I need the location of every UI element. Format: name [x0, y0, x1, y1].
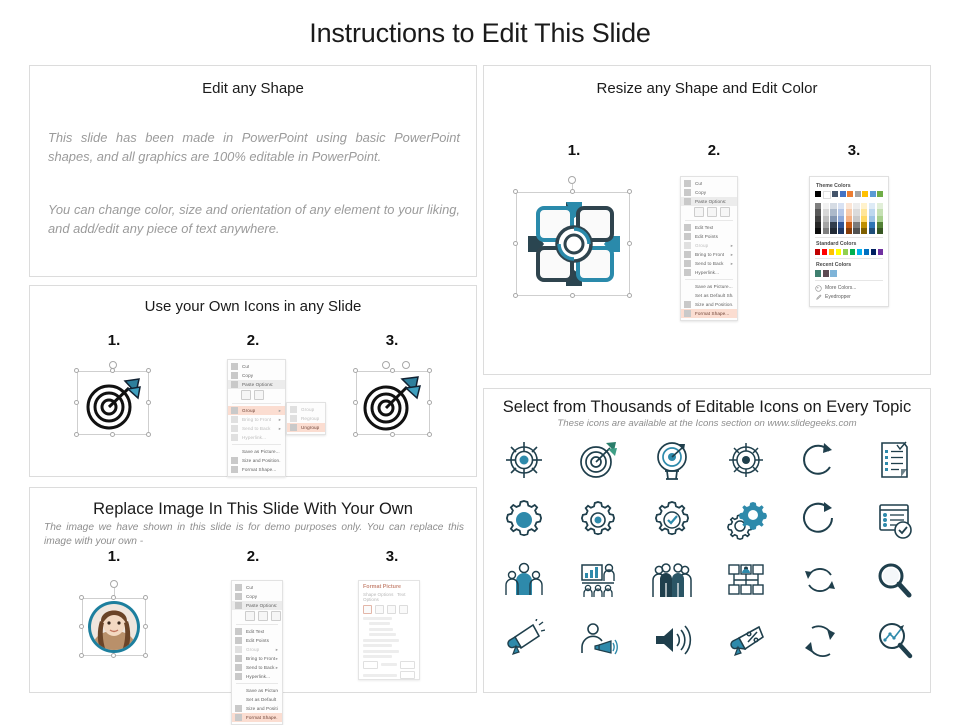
replace-step-1-number: 1.: [84, 548, 144, 565]
group-icon: [235, 646, 242, 653]
resize-handle-ne[interactable]: [627, 189, 632, 194]
presentation-meeting-icon[interactable]: [570, 559, 626, 611]
color-swatch[interactable]: [840, 191, 846, 197]
menu-divider: [685, 279, 733, 280]
paste-icon: [684, 198, 691, 205]
rotate-handle-2[interactable]: [402, 361, 410, 369]
menu-item-cut[interactable]: Cut: [228, 362, 285, 371]
replace-step-2-number: 2.: [223, 548, 283, 565]
submenu-item-group[interactable]: Group: [287, 405, 325, 414]
edit-shape-paragraph-2: You can change color, size and orientati…: [48, 200, 460, 238]
resize-handle-n[interactable]: [390, 368, 395, 373]
format-pane-option: [369, 622, 390, 625]
paste-picture-icon[interactable]: [258, 611, 268, 621]
chevron-right-icon: ▸: [276, 663, 278, 672]
menu-item-format-shape[interactable]: Format Shape...: [681, 309, 737, 318]
refresh-arrow-icon[interactable]: [792, 439, 848, 491]
panel-resize-shape-edit-color: Resize any Shape and Edit Color 1. 2. 3.: [483, 65, 931, 375]
color-swatch[interactable]: [829, 249, 834, 255]
eyedropper-icon: [815, 294, 822, 301]
color-swatch[interactable]: [864, 249, 869, 255]
replace-step-2-context-menu[interactable]: Cut Copy Paste Options: Edit Text Edit P…: [231, 580, 283, 725]
own-icons-context-menu[interactable]: Cut Copy Paste Options: Group▸ Bring to …: [227, 359, 286, 477]
menu-item-edit-points[interactable]: Edit Points: [681, 232, 737, 241]
color-swatch[interactable]: [815, 270, 821, 276]
chevron-right-icon: ▸: [731, 241, 733, 250]
format-pane-option: [369, 628, 393, 631]
paste-picture-icon[interactable]: [254, 390, 264, 400]
copy-icon: [235, 593, 242, 600]
send-back-icon: [684, 260, 691, 267]
resize-handle-sw[interactable]: [353, 432, 358, 437]
edit-shape-paragraph-1: This slide has been made in PowerPoint u…: [48, 128, 460, 166]
format-pane-label: [363, 674, 397, 677]
menu-divider: [236, 624, 278, 625]
divider: [815, 280, 883, 281]
resize-handle-w[interactable]: [74, 400, 79, 405]
size-icon[interactable]: [387, 605, 396, 614]
edit-text-icon: [235, 628, 242, 635]
size-position-icon: [231, 457, 238, 464]
copy-icon: [231, 372, 238, 379]
format-shape-icon: [684, 310, 691, 317]
color-swatch[interactable]: [830, 228, 836, 234]
value-field[interactable]: [400, 661, 415, 669]
resize-handle-ne[interactable]: [427, 368, 432, 373]
checklist-approved-icon[interactable]: [866, 499, 922, 551]
speaker-icon[interactable]: [644, 619, 700, 671]
bring-front-icon: [231, 416, 238, 423]
blank-icon: [235, 687, 242, 694]
edit-text-icon: [684, 224, 691, 231]
page-title: Instructions to Edit This Slide: [0, 18, 960, 49]
crosshair-dot-icon[interactable]: [718, 439, 774, 491]
double-gear-icon[interactable]: [718, 499, 774, 551]
eyedropper-item[interactable]: Eyedropper: [815, 293, 883, 302]
target-arrow-ungrouped-icon: [359, 376, 423, 434]
panel-resize-shape-title: Resize any Shape and Edit Color: [484, 80, 930, 97]
target-stand-icon[interactable]: [644, 439, 700, 491]
color-swatch[interactable]: [847, 191, 853, 197]
own-icons-step-1-number: 1.: [84, 332, 144, 349]
menu-item-send-to-back[interactable]: Send to Back▸: [681, 259, 737, 268]
portrait-photo: [86, 599, 142, 655]
rotate-handle[interactable]: [568, 176, 576, 184]
replace-step-3-number: 3.: [362, 548, 422, 565]
own-icons-step-3-number: 3.: [362, 332, 422, 349]
resize-handle-se[interactable]: [143, 653, 148, 658]
paste-keep-format-icon[interactable]: [694, 207, 704, 217]
own-icons-step-2-number: 2.: [223, 332, 283, 349]
person-megaphone-icon[interactable]: [570, 619, 626, 671]
format-pane-icon-row[interactable]: [363, 605, 415, 614]
resize-handle-sw[interactable]: [74, 432, 79, 437]
group-submenu[interactable]: Group Regroup Ungroup: [286, 402, 326, 435]
format-pane-label: [381, 663, 397, 666]
color-swatch[interactable]: [815, 249, 820, 255]
resize-handle-nw[interactable]: [353, 368, 358, 373]
menu-item-format-shape[interactable]: Format Shape...: [232, 713, 282, 722]
menu-item-format-shape[interactable]: Format Shape...: [228, 465, 285, 474]
panel-replace-image-title: Replace Image In This Slide With Your Ow…: [30, 500, 476, 519]
menu-item-bring-to-front[interactable]: Bring to Front▸: [681, 250, 737, 259]
resize-handle-e[interactable]: [427, 400, 432, 405]
resize-handle-e[interactable]: [143, 624, 148, 629]
menu-item-edit-points[interactable]: Edit Points: [232, 636, 282, 645]
resize-handle-nw[interactable]: [74, 368, 79, 373]
group-icon: [290, 406, 297, 413]
own-icons-step-3-illustration: [354, 363, 432, 435]
divider: [815, 258, 883, 259]
group-icon: [231, 407, 238, 414]
magnifier-chart-icon[interactable]: [866, 619, 922, 671]
resize-handle-e[interactable]: [146, 400, 151, 405]
paste-keep-format-icon[interactable]: [241, 390, 251, 400]
color-swatch-button[interactable]: [363, 661, 378, 669]
scissors-icon: [684, 180, 691, 187]
resize-step-1-number: 1.: [544, 142, 604, 159]
value-field[interactable]: [400, 671, 415, 679]
gear-check-icon[interactable]: [644, 499, 700, 551]
menu-item-hyperlink[interactable]: Hyperlink...: [232, 672, 282, 681]
scissors-icon: [235, 584, 242, 591]
menu-item-cut[interactable]: Cut: [232, 583, 282, 592]
rotate-handle[interactable]: [110, 580, 118, 588]
color-swatch[interactable]: [846, 228, 852, 234]
resize-handle-nw[interactable]: [79, 595, 84, 600]
menu-item-save-as-picture[interactable]: Save as Picture...: [232, 686, 282, 695]
color-swatch[interactable]: [823, 228, 829, 234]
scissors-icon: [231, 363, 238, 370]
recent-colors-label: Recent Colors: [816, 262, 883, 268]
color-swatch[interactable]: [853, 228, 859, 234]
paste-icon: [235, 602, 242, 609]
copy-icon: [684, 189, 691, 196]
edit-points-icon: [684, 233, 691, 240]
hyperlink-icon: [684, 269, 691, 276]
menu-item-copy[interactable]: Copy: [681, 188, 737, 197]
theme-colors-grid[interactable]: [815, 191, 883, 234]
format-pane-option: [363, 650, 399, 653]
paste-option-buttons[interactable]: [681, 206, 737, 218]
fill-icon[interactable]: [363, 605, 372, 614]
color-swatch[interactable]: [877, 191, 883, 197]
theme-tint-row[interactable]: [815, 228, 883, 234]
menu-item-set-default-shape[interactable]: Set as Default Shape: [232, 695, 282, 704]
format-pane-title: Format Picture: [363, 584, 415, 590]
checklist-document-icon[interactable]: [866, 439, 922, 491]
menu-divider: [232, 403, 281, 404]
chevron-right-icon: ▸: [731, 259, 733, 268]
panel-own-icons-title: Use your Own Icons in any Slide: [30, 298, 476, 315]
menu-item-group[interactable]: Group▸: [681, 241, 737, 250]
color-swatch[interactable]: [815, 228, 821, 234]
panel-edit-any-shape: Edit any Shape This slide has been made …: [29, 65, 477, 277]
target-crosshair-icon[interactable]: [496, 439, 552, 491]
submenu-item-regroup[interactable]: Regroup: [287, 414, 325, 423]
chevron-right-icon: ▸: [279, 406, 281, 415]
menu-item-set-default-shape[interactable]: Set as Default Shape: [681, 291, 737, 300]
bring-front-icon: [684, 251, 691, 258]
magnifier-icon[interactable]: [866, 559, 922, 611]
format-picture-pane[interactable]: Format Picture Shape Options Text Option…: [358, 580, 420, 680]
paste-option-buttons[interactable]: [228, 389, 285, 401]
color-swatch[interactable]: [871, 249, 876, 255]
menu-item-paste-options[interactable]: Paste Options:: [228, 380, 285, 389]
menu-item-hyperlink[interactable]: Hyperlink...: [681, 268, 737, 277]
resize-handle-s[interactable]: [570, 293, 575, 298]
org-chart-icon[interactable]: [718, 559, 774, 611]
picture-icon[interactable]: [399, 605, 408, 614]
menu-divider: [236, 683, 278, 684]
megaphone-percent-icon[interactable]: [718, 619, 774, 671]
format-shape-icon: [231, 466, 238, 473]
resize-handle-n[interactable]: [110, 368, 115, 373]
chevron-right-icon: ▸: [279, 415, 281, 424]
format-pane-option: [369, 633, 396, 636]
menu-item-copy[interactable]: Copy: [232, 592, 282, 601]
target-arrow-icon: [83, 377, 143, 433]
blank-icon: [684, 292, 691, 299]
rotate-handle[interactable]: [382, 361, 390, 369]
color-swatch[interactable]: [878, 249, 883, 255]
send-back-icon: [235, 664, 242, 671]
color-swatch[interactable]: [832, 191, 838, 197]
divider: [815, 237, 883, 238]
color-picker-panel[interactable]: Theme Colors Standard Colors Recent Colo…: [809, 176, 889, 307]
color-swatch[interactable]: [830, 270, 836, 276]
blank-icon: [235, 696, 242, 703]
effects-icon[interactable]: [375, 605, 384, 614]
menu-item-bring-to-front[interactable]: Bring to Front▸: [232, 654, 282, 663]
icon-grid: [484, 389, 930, 692]
panel-use-own-icons: Use your Own Icons in any Slide 1. 2. 3.: [29, 285, 477, 477]
size-position-icon: [684, 301, 691, 308]
menu-item-bring-to-front[interactable]: Bring to Front▸: [228, 415, 285, 424]
edit-points-icon: [235, 637, 242, 644]
menu-item-send-to-back[interactable]: Send to Back▸: [228, 424, 285, 433]
regroup-icon: [290, 415, 297, 422]
format-pane-row: [363, 671, 415, 679]
color-swatch[interactable]: [869, 228, 875, 234]
target-arrow-icon[interactable]: [570, 439, 626, 491]
paste-picture-icon[interactable]: [707, 207, 717, 217]
menu-divider: [232, 444, 281, 445]
color-swatch[interactable]: [815, 191, 821, 197]
format-pane-option: [363, 639, 399, 642]
theme-colors-base-row[interactable]: [815, 191, 883, 199]
ungroup-icon: [290, 424, 297, 431]
team-standing-icon[interactable]: [644, 559, 700, 611]
paste-text-icon[interactable]: [271, 611, 281, 621]
resize-handle-w[interactable]: [79, 624, 84, 629]
hyperlink-icon: [231, 434, 238, 441]
panel-edit-shape-title: Edit any Shape: [30, 80, 476, 97]
color-swatch[interactable]: [861, 228, 867, 234]
team-group-icon[interactable]: [496, 559, 552, 611]
group-icon: [684, 242, 691, 249]
send-back-icon: [231, 425, 238, 432]
cycle-arrows-icon[interactable]: [792, 619, 848, 671]
resize-handle-ne[interactable]: [146, 368, 151, 373]
menu-item-save-as-picture[interactable]: Save as Picture...: [681, 282, 737, 291]
resize-step-2-context-menu[interactable]: Cut Copy Paste Options: Edit Text Edit P…: [680, 176, 738, 321]
own-icons-step-1-illustration: [77, 363, 149, 435]
size-position-icon: [235, 705, 242, 712]
gear-outline-icon[interactable]: [570, 499, 626, 551]
resize-handle-se[interactable]: [146, 432, 151, 437]
format-pane-section-header: [363, 617, 392, 620]
circular-arrow-icon[interactable]: [792, 499, 848, 551]
blank-icon: [231, 448, 238, 455]
resize-handle-sw[interactable]: [513, 293, 518, 298]
standard-colors-label: Standard Colors: [816, 241, 883, 247]
color-swatch[interactable]: [857, 249, 862, 255]
color-swatch[interactable]: [838, 228, 844, 234]
format-pane-color-row[interactable]: [363, 661, 415, 669]
paste-icon: [231, 381, 238, 388]
format-pane-option: [363, 655, 392, 658]
menu-item-group[interactable]: Group▸: [228, 406, 285, 415]
resize-handle-e[interactable]: [627, 241, 632, 246]
bring-front-icon: [235, 655, 242, 662]
gear-filled-icon[interactable]: [496, 499, 552, 551]
menu-item-paste-options[interactable]: Paste Options:: [681, 197, 737, 206]
paste-text-icon[interactable]: [720, 207, 730, 217]
resize-handle-se[interactable]: [627, 293, 632, 298]
color-swatch[interactable]: [823, 270, 829, 276]
replace-step-1-illustration: [82, 580, 146, 658]
replace-image-note: The image we have shown in this slide is…: [44, 521, 464, 549]
palette-icon: [815, 285, 822, 292]
color-swatch[interactable]: [850, 249, 855, 255]
format-pane-option: [363, 644, 392, 647]
recent-colors-row[interactable]: [815, 270, 883, 276]
theme-colors-label: Theme Colors: [816, 183, 883, 189]
resize-handle-ne[interactable]: [143, 595, 148, 600]
color-swatch[interactable]: [877, 228, 883, 234]
color-swatch[interactable]: [822, 249, 827, 255]
color-swatch[interactable]: [862, 191, 868, 197]
format-pane-tabs[interactable]: Shape Options Text Options: [363, 592, 415, 602]
menu-item-cut[interactable]: Cut: [681, 179, 737, 188]
menu-item-edit-text[interactable]: Edit Text: [232, 627, 282, 636]
submenu-item-ungroup[interactable]: Ungroup: [287, 423, 325, 432]
menu-item-size-and-position[interactable]: Size and Position...: [681, 300, 737, 309]
panel-replace-image: Replace Image In This Slide With Your Ow…: [29, 487, 477, 693]
menu-item-paste-options[interactable]: Paste Options:: [232, 601, 282, 610]
color-swatch[interactable]: [855, 191, 861, 197]
resize-handle-n[interactable]: [570, 189, 575, 194]
chevron-right-icon: ▸: [276, 645, 278, 654]
sync-arrows-icon[interactable]: [792, 559, 848, 611]
color-swatch[interactable]: [870, 191, 876, 197]
megaphone-icon[interactable]: [496, 619, 552, 671]
paste-option-buttons[interactable]: [232, 610, 282, 622]
standard-colors-row[interactable]: [815, 249, 883, 255]
color-swatch[interactable]: [836, 249, 841, 255]
menu-item-send-to-back[interactable]: Send to Back▸: [232, 663, 282, 672]
hyperlink-icon: [235, 673, 242, 680]
color-swatch[interactable]: [823, 191, 831, 199]
resize-step-2-number: 2.: [684, 142, 744, 159]
menu-item-size-and-position[interactable]: Size and Position...: [232, 704, 282, 713]
resize-handle-se[interactable]: [427, 432, 432, 437]
slide-canvas: Instructions to Edit This Slide Edit any…: [0, 0, 960, 720]
menu-item-save-as-picture[interactable]: Save as Picture...: [228, 447, 285, 456]
blank-icon: [684, 283, 691, 290]
resize-handle-w[interactable]: [513, 241, 518, 246]
resize-handle-w[interactable]: [353, 400, 358, 405]
chevron-right-icon: ▸: [279, 424, 281, 433]
menu-item-size-and-position[interactable]: Size and Position...: [228, 456, 285, 465]
more-colors-item[interactable]: More Colors...: [815, 284, 883, 293]
paste-keep-format-icon[interactable]: [245, 611, 255, 621]
resize-step-3-number: 3.: [824, 142, 884, 159]
resize-handle-sw[interactable]: [79, 653, 84, 658]
resize-step-1-illustration: [510, 174, 638, 300]
menu-item-copy[interactable]: Copy: [228, 371, 285, 380]
resize-handle-nw[interactable]: [513, 189, 518, 194]
four-square-cycle-shape: [522, 196, 626, 292]
panel-editable-icons: Select from Thousands of Editable Icons …: [483, 388, 931, 693]
menu-item-edit-text[interactable]: Edit Text: [681, 223, 737, 232]
menu-item-group[interactable]: Group▸: [232, 645, 282, 654]
chevron-right-icon: ▸: [731, 250, 733, 259]
color-swatch[interactable]: [843, 249, 848, 255]
menu-item-hyperlink[interactable]: Hyperlink...: [228, 433, 285, 442]
menu-divider: [685, 220, 733, 221]
chevron-right-icon: ▸: [276, 654, 278, 663]
theme-colors-tint-rows[interactable]: [815, 203, 883, 234]
